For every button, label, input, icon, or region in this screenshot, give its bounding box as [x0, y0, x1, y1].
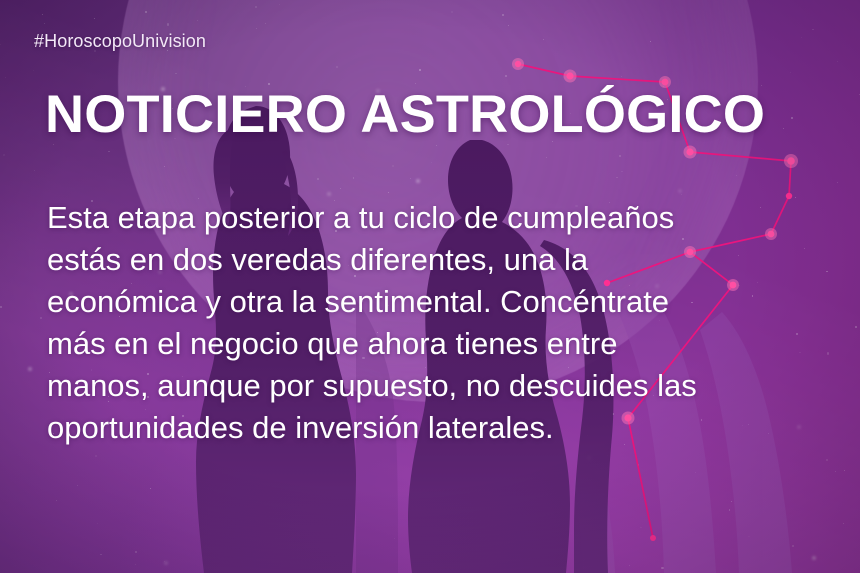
body-line: estás en dos veredas diferentes, una la: [47, 239, 787, 281]
hashtag-label: #HoroscopoUnivision: [34, 31, 206, 52]
body-line: manos, aunque por supuesto, no descuides…: [47, 365, 787, 407]
body-line: más en el negocio que ahora tienes entre: [47, 323, 787, 365]
horoscope-card: #HoroscopoUnivision NOTICIERO ASTROLÓGIC…: [0, 0, 860, 573]
body-line: económica y otra la sentimental. Concént…: [47, 281, 787, 323]
body-line: Esta etapa posterior a tu ciclo de cumpl…: [47, 197, 787, 239]
page-title: NOTICIERO ASTROLÓGICO: [45, 88, 765, 142]
horoscope-body-text: Esta etapa posterior a tu ciclo de cumpl…: [47, 197, 787, 449]
body-line: oportunidades de inversión laterales.: [47, 407, 787, 449]
